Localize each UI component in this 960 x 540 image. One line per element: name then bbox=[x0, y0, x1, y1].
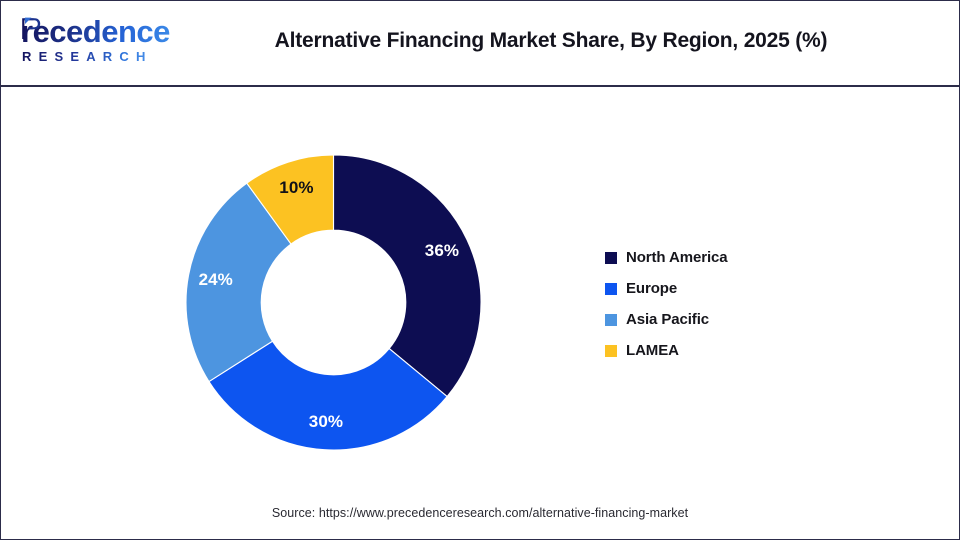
legend-item[interactable]: Europe bbox=[605, 273, 835, 304]
donut-slice[interactable] bbox=[334, 155, 481, 397]
header-bar: recedence RESEARCH Alternative Financing… bbox=[1, 1, 959, 85]
legend-item-label: Europe bbox=[626, 280, 677, 297]
legend-swatch-icon bbox=[605, 345, 617, 357]
precedence-p-mark-icon bbox=[21, 17, 41, 40]
legend-swatch-icon bbox=[605, 252, 617, 264]
chart-canvas: recedence RESEARCH Alternative Financing… bbox=[0, 0, 960, 540]
donut-chart: 36%30%24%10% bbox=[185, 154, 482, 451]
logo-wordmark: recedence bbox=[21, 16, 170, 47]
legend-item-label: Asia Pacific bbox=[626, 311, 709, 328]
legend-swatch-icon bbox=[605, 283, 617, 295]
precedence-research-logo: recedence RESEARCH bbox=[15, 14, 175, 70]
chart-title: Alternative Financing Market Share, By R… bbox=[191, 29, 911, 53]
chart-legend: North AmericaEuropeAsia PacificLAMEA bbox=[605, 242, 835, 366]
legend-item-label: LAMEA bbox=[626, 342, 679, 359]
legend-item[interactable]: LAMEA bbox=[605, 335, 835, 366]
legend-swatch-icon bbox=[605, 314, 617, 326]
legend-item-label: North America bbox=[626, 249, 728, 266]
source-caption: Source: https://www.precedenceresearch.c… bbox=[1, 506, 959, 520]
donut-slices bbox=[186, 155, 481, 450]
legend-item[interactable]: North America bbox=[605, 242, 835, 273]
logo-subwordmark: RESEARCH bbox=[22, 50, 153, 63]
plot-area: 36%30%24%10% North AmericaEuropeAsia Pac… bbox=[1, 87, 959, 493]
legend-item[interactable]: Asia Pacific bbox=[605, 304, 835, 335]
donut-chart-svg bbox=[185, 154, 482, 451]
